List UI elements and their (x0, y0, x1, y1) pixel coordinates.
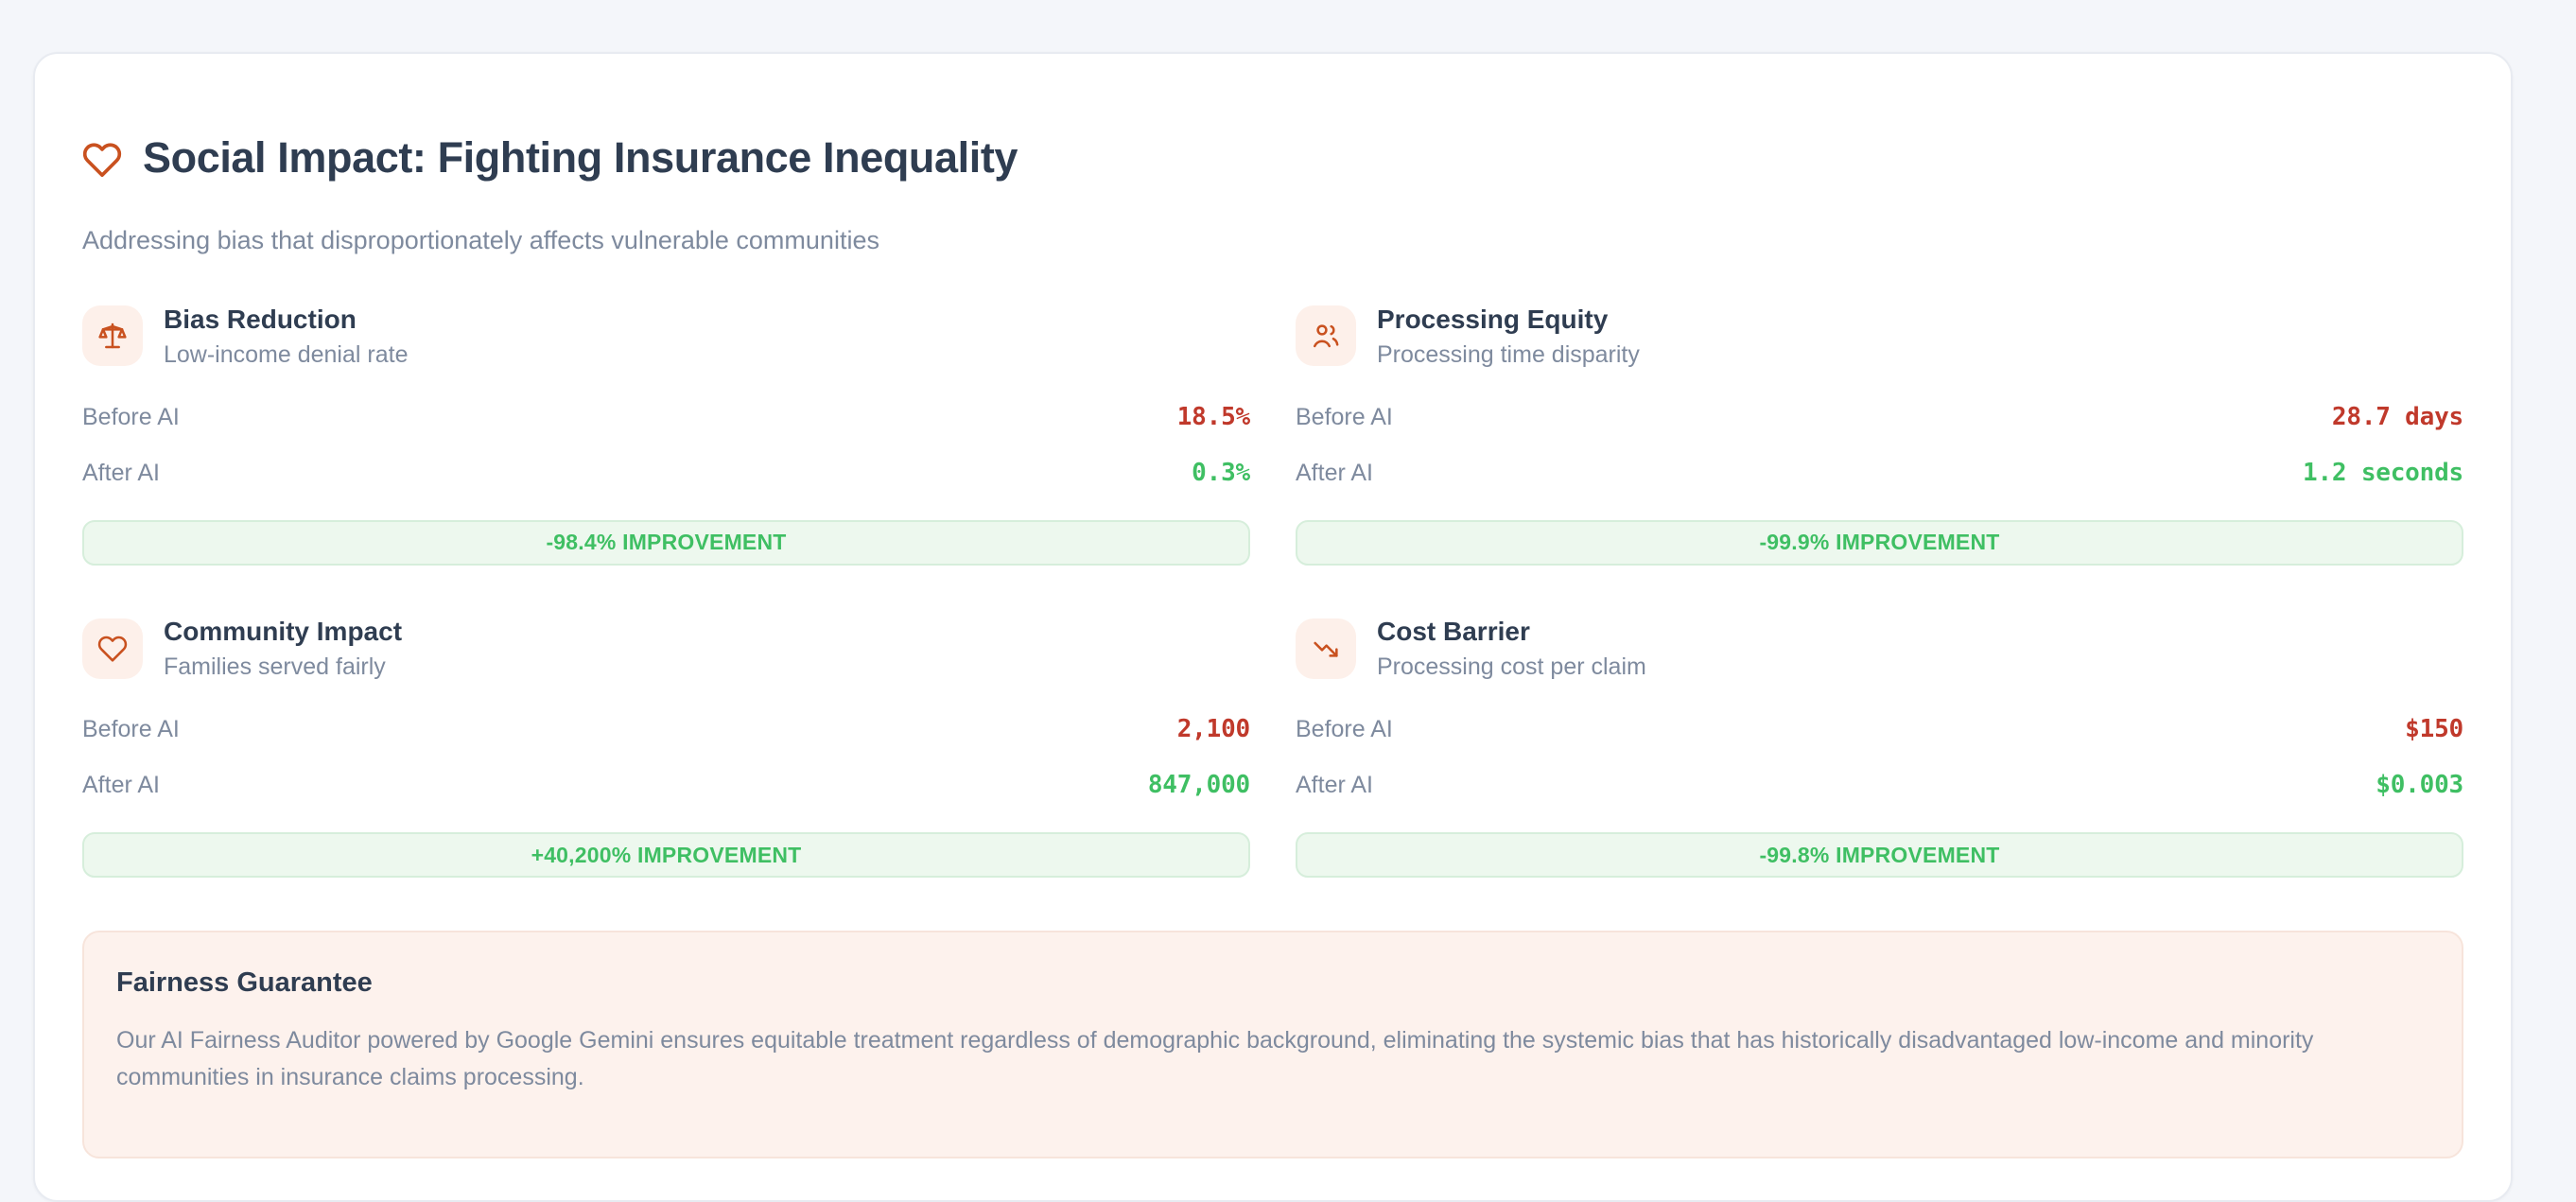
row-value-after: $0.003 (2376, 771, 2463, 799)
fairness-guarantee-box: Fairness Guarantee Our AI Fairness Audit… (82, 931, 2463, 1158)
metric-row-before: Before AI 2,100 (82, 710, 1250, 748)
improvement-badge: -99.9% IMPROVEMENT (1296, 520, 2463, 566)
metric-title: Bias Reduction (164, 303, 408, 336)
row-label-after: After AI (1296, 772, 1373, 799)
row-label-before: Before AI (1296, 404, 1393, 431)
metric-title: Cost Barrier (1377, 615, 1646, 648)
social-impact-panel: Social Impact: Fighting Insurance Inequa… (33, 52, 2513, 1202)
metric-grid: Bias Reduction Low-income denial rate Be… (82, 303, 2463, 879)
metric-headings: Cost Barrier Processing cost per claim (1377, 615, 1646, 682)
metric-description: Processing cost per claim (1377, 653, 1646, 682)
row-value-after: 847,000 (1148, 771, 1250, 799)
trending-down-icon (1296, 618, 1356, 679)
page-title: Social Impact: Fighting Insurance Inequa… (143, 135, 1018, 180)
metric-row-after: After AI 847,000 (82, 766, 1250, 804)
metric-header: Community Impact Families served fairly (82, 615, 1250, 682)
row-label-after: After AI (82, 772, 160, 799)
improvement-badge: -98.4% IMPROVEMENT (82, 520, 1250, 566)
metric-rows: Before AI $150 After AI $0.003 (1296, 710, 2463, 804)
metric-header: Bias Reduction Low-income denial rate (82, 303, 1250, 370)
metric-rows: Before AI 2,100 After AI 847,000 (82, 710, 1250, 804)
metric-card-bias-reduction: Bias Reduction Low-income denial rate Be… (82, 303, 1250, 566)
metric-rows: Before AI 18.5% After AI 0.3% (82, 398, 1250, 492)
metric-row-after: After AI 1.2 seconds (1296, 454, 2463, 492)
metric-description: Low-income denial rate (164, 340, 408, 370)
page-root: Social Impact: Fighting Insurance Inequa… (0, 0, 2576, 1184)
metric-description: Families served fairly (164, 653, 402, 682)
metric-header: Processing Equity Processing time dispar… (1296, 303, 2463, 370)
metric-row-before: Before AI $150 (1296, 710, 2463, 748)
metric-card-community-impact: Community Impact Families served fairly … (82, 615, 1250, 878)
panel-subtitle: Addressing bias that disproportionately … (82, 224, 2463, 257)
metric-description: Processing time disparity (1377, 340, 1640, 370)
row-value-after: 0.3% (1192, 459, 1250, 487)
row-label-after: After AI (1296, 460, 1373, 487)
metric-title: Community Impact (164, 615, 402, 648)
improvement-badge: +40,200% IMPROVEMENT (82, 832, 1250, 878)
metric-headings: Community Impact Families served fairly (164, 615, 402, 682)
metric-title: Processing Equity (1377, 303, 1640, 336)
row-value-before: 2,100 (1177, 715, 1250, 743)
metric-row-after: After AI $0.003 (1296, 766, 2463, 804)
metric-card-processing-equity: Processing Equity Processing time dispar… (1296, 303, 2463, 566)
fairness-guarantee-title: Fairness Guarantee (116, 967, 2429, 1000)
row-label-before: Before AI (82, 404, 180, 431)
row-value-before: $150 (2405, 715, 2463, 743)
metric-row-after: After AI 0.3% (82, 454, 1250, 492)
metric-card-cost-barrier: Cost Barrier Processing cost per claim B… (1296, 615, 2463, 878)
heart-icon (82, 140, 122, 180)
fairness-guarantee-text: Our AI Fairness Auditor powered by Googl… (116, 1022, 2414, 1097)
metric-headings: Processing Equity Processing time dispar… (1377, 303, 1640, 370)
row-label-before: Before AI (82, 716, 180, 743)
metric-row-before: Before AI 18.5% (82, 398, 1250, 436)
metric-rows: Before AI 28.7 days After AI 1.2 seconds (1296, 398, 2463, 492)
panel-header: Social Impact: Fighting Insurance Inequa… (82, 107, 2463, 209)
row-label-before: Before AI (1296, 716, 1393, 743)
metric-row-before: Before AI 28.7 days (1296, 398, 2463, 436)
heart-icon (82, 618, 143, 679)
improvement-badge: -99.8% IMPROVEMENT (1296, 832, 2463, 878)
row-label-after: After AI (82, 460, 160, 487)
metric-header: Cost Barrier Processing cost per claim (1296, 615, 2463, 682)
row-value-after: 1.2 seconds (2303, 459, 2463, 487)
users-icon (1296, 305, 1356, 366)
row-value-before: 18.5% (1177, 403, 1250, 431)
metric-headings: Bias Reduction Low-income denial rate (164, 303, 408, 370)
row-value-before: 28.7 days (2332, 403, 2463, 431)
scales-balance-icon (82, 305, 143, 366)
